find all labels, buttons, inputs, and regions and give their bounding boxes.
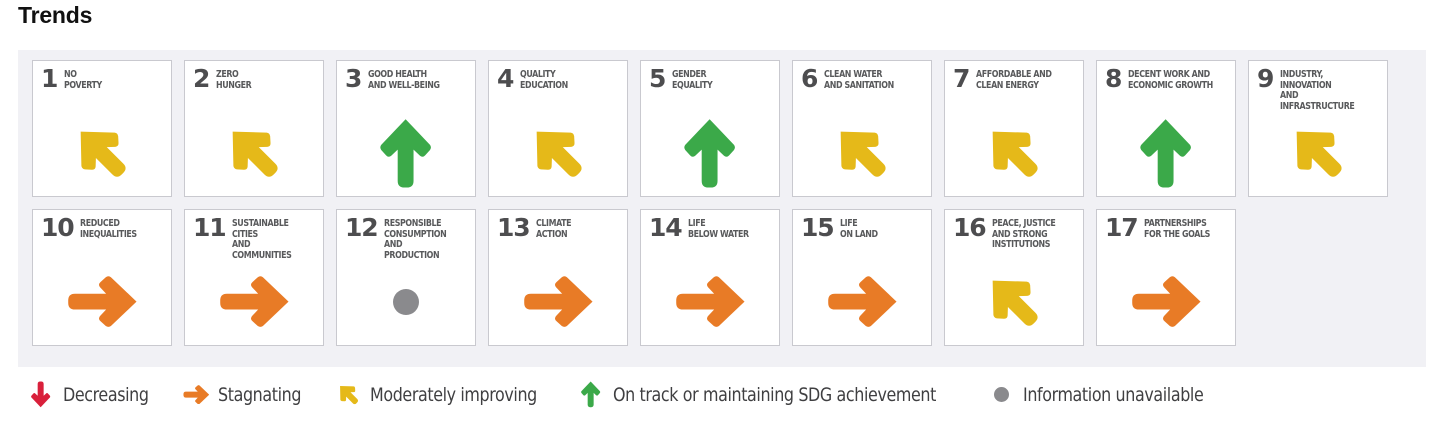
legend-label: Moderately improving: [370, 384, 537, 406]
arrow-right-icon: [489, 267, 627, 337]
arrow-up-icon: [1097, 118, 1235, 188]
goal-number: 10: [41, 218, 73, 238]
goal-number: 16: [953, 218, 985, 238]
goal-number: 7: [953, 69, 969, 89]
arrow-up-right-icon: [489, 118, 627, 188]
goal-card-header: 3GOOD HEALTH AND WELL-BEING: [337, 61, 475, 91]
goal-card-15[interactable]: 15LIFE ON LAND: [792, 209, 932, 346]
arrow-right-icon: [185, 267, 323, 337]
goal-number: 1: [41, 69, 57, 89]
arrow-up-icon: [337, 118, 475, 188]
goal-card-header: 2ZERO HUNGER: [185, 61, 323, 91]
legend-label: Decreasing: [63, 384, 149, 406]
legend-item-stagnating: Stagnating: [181, 384, 307, 406]
goal-label: SUSTAINABLE CITIES AND COMMUNITIES: [232, 219, 306, 261]
goal-number: 3: [345, 69, 361, 89]
goal-card-2[interactable]: 2ZERO HUNGER: [184, 60, 324, 197]
goal-card-header: 16PEACE, JUSTICE AND STRONG INSTITUTIONS: [945, 210, 1083, 251]
goal-card-header: 1NO POVERTY: [33, 61, 171, 91]
legend-item-moderately-improving: Moderately improving: [333, 381, 549, 408]
goal-number: 15: [801, 218, 833, 238]
goal-card-17[interactable]: 17PARTNERSHIPS FOR THE GOALS: [1096, 209, 1236, 346]
goal-row-1: 1NO POVERTY2ZERO HUNGER3GOOD HEALTH AND …: [32, 60, 1426, 197]
goal-number: 13: [497, 218, 529, 238]
goal-card-10[interactable]: 10REDUCED INEQUALITIES: [32, 209, 172, 346]
goal-card-6[interactable]: 6CLEAN WATER AND SANITATION: [792, 60, 932, 197]
goal-card-9[interactable]: 9INDUSTRY, INNOVATION AND INFRASTRUCTURE: [1248, 60, 1388, 197]
goal-card-3[interactable]: 3GOOD HEALTH AND WELL-BEING: [336, 60, 476, 197]
arrow-right-icon: [793, 267, 931, 337]
arrow-right-icon: [33, 267, 171, 337]
goal-label: AFFORDABLE AND CLEAN ENERGY: [976, 70, 1052, 91]
goal-number: 8: [1105, 69, 1121, 89]
arrow-right-icon: [181, 385, 211, 404]
goal-number: 9: [1257, 69, 1273, 89]
legend-item-decreasing: Decreasing: [26, 381, 155, 408]
legend-label: Stagnating: [218, 384, 301, 406]
goal-row-2: 10REDUCED INEQUALITIES11SUSTAINABLE CITI…: [32, 209, 1426, 346]
goal-label: CLEAN WATER AND SANITATION: [824, 70, 894, 91]
page-title: Trends: [18, 2, 92, 29]
goal-label: QUALITY EDUCATION: [520, 70, 568, 91]
trends-panel: 1NO POVERTY2ZERO HUNGER3GOOD HEALTH AND …: [18, 50, 1426, 367]
goal-card-header: 14LIFE BELOW WATER: [641, 210, 779, 240]
goal-card-header: 4QUALITY EDUCATION: [489, 61, 627, 91]
goal-label: PARTNERSHIPS FOR THE GOALS: [1144, 219, 1210, 240]
arrow-down-icon: [26, 381, 56, 408]
arrow-right-icon: [1097, 267, 1235, 337]
goal-card-header: 5GENDER EQUALITY: [641, 61, 779, 91]
arrow-up-right-icon: [333, 381, 363, 408]
arrow-up-right-icon: [945, 118, 1083, 188]
legend-item-on-track: On track or maintaining SDG achievement: [576, 381, 960, 408]
goal-label: RESPONSIBLE CONSUMPTION AND PRODUCTION: [384, 219, 458, 261]
legend-label: Information unavailable: [1023, 384, 1203, 406]
goal-card-1[interactable]: 1NO POVERTY: [32, 60, 172, 197]
arrow-up-right-icon: [945, 267, 1083, 337]
arrow-up-icon: [641, 118, 779, 188]
goal-card-header: 6CLEAN WATER AND SANITATION: [793, 61, 931, 91]
arrow-up-right-icon: [1249, 118, 1387, 188]
goal-card-header: 17PARTNERSHIPS FOR THE GOALS: [1097, 210, 1235, 240]
circle-icon: [986, 387, 1016, 402]
arrow-up-right-icon: [185, 118, 323, 188]
goal-card-header: 12RESPONSIBLE CONSUMPTION AND PRODUCTION: [337, 210, 475, 261]
goal-card-4[interactable]: 4QUALITY EDUCATION: [488, 60, 628, 197]
goal-card-12[interactable]: 12RESPONSIBLE CONSUMPTION AND PRODUCTION: [336, 209, 476, 346]
goal-label: LIFE ON LAND: [840, 219, 878, 240]
goal-number: 17: [1105, 218, 1137, 238]
goal-number: 6: [801, 69, 817, 89]
goal-card-13[interactable]: 13CLIMATE ACTION: [488, 209, 628, 346]
goal-card-7[interactable]: 7AFFORDABLE AND CLEAN ENERGY: [944, 60, 1084, 197]
goal-number: 11: [193, 218, 225, 238]
legend-item-unavailable: Information unavailable: [986, 384, 1217, 406]
goal-card-header: 15LIFE ON LAND: [793, 210, 931, 240]
goal-number: 4: [497, 69, 513, 89]
goal-card-8[interactable]: 8DECENT WORK AND ECONOMIC GROWTH: [1096, 60, 1236, 197]
goal-card-header: 7AFFORDABLE AND CLEAN ENERGY: [945, 61, 1083, 91]
goal-card-16[interactable]: 16PEACE, JUSTICE AND STRONG INSTITUTIONS: [944, 209, 1084, 346]
goal-card-header: 10REDUCED INEQUALITIES: [33, 210, 171, 240]
goal-card-header: 9INDUSTRY, INNOVATION AND INFRASTRUCTURE: [1249, 61, 1387, 112]
arrow-right-icon: [641, 267, 779, 337]
goal-label: ZERO HUNGER: [216, 70, 251, 91]
goal-label: REDUCED INEQUALITIES: [80, 219, 137, 240]
goal-number: 2: [193, 69, 209, 89]
goal-card-11[interactable]: 11SUSTAINABLE CITIES AND COMMUNITIES: [184, 209, 324, 346]
goal-label: GOOD HEALTH AND WELL-BEING: [368, 70, 440, 91]
goal-label: LIFE BELOW WATER: [688, 219, 749, 240]
goal-label: PEACE, JUSTICE AND STRONG INSTITUTIONS: [992, 219, 1055, 251]
legend: DecreasingStagnatingModerately improving…: [26, 381, 1243, 408]
legend-label: On track or maintaining SDG achievement: [613, 384, 936, 406]
arrow-up-right-icon: [793, 118, 931, 188]
goal-card-header: 8DECENT WORK AND ECONOMIC GROWTH: [1097, 61, 1235, 91]
goal-number: 12: [345, 218, 377, 238]
goal-card-header: 11SUSTAINABLE CITIES AND COMMUNITIES: [185, 210, 323, 261]
goal-label: GENDER EQUALITY: [672, 70, 712, 91]
goal-card-header: 13CLIMATE ACTION: [489, 210, 627, 240]
goal-card-14[interactable]: 14LIFE BELOW WATER: [640, 209, 780, 346]
arrow-up-right-icon: [33, 118, 171, 188]
goal-label: CLIMATE ACTION: [536, 219, 571, 240]
circle-icon: [337, 267, 475, 337]
goal-number: 5: [649, 69, 665, 89]
goal-label: DECENT WORK AND ECONOMIC GROWTH: [1128, 70, 1213, 91]
goal-label: NO POVERTY: [64, 70, 102, 91]
goal-number: 14: [649, 218, 681, 238]
goal-label: INDUSTRY, INNOVATION AND INFRASTRUCTURE: [1280, 70, 1369, 112]
goal-card-5[interactable]: 5GENDER EQUALITY: [640, 60, 780, 197]
arrow-up-icon: [576, 381, 606, 408]
